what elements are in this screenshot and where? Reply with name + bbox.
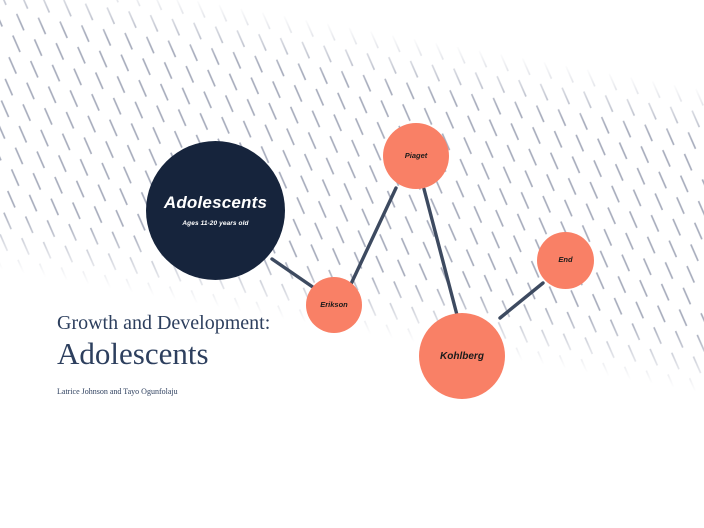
headline-block: Growth and Development: Adolescents Latr…	[57, 312, 387, 396]
mindmap-node-end-label: End	[558, 256, 572, 264]
mindmap-node-end[interactable]: End	[537, 232, 594, 289]
slide-byline: Latrice Johnson and Tayo Ogunfolaju	[57, 387, 387, 396]
mindmap-connectors	[0, 0, 704, 528]
mindmap-node-kohlberg[interactable]: Kohlberg	[419, 313, 505, 399]
mindmap-node-piaget-label: Piaget	[405, 152, 428, 160]
mindmap-node-root-label: Adolescents	[164, 194, 267, 213]
mindmap-node-erikson-label: Erikson	[320, 301, 348, 309]
slide-eyebrow-title: Growth and Development:	[57, 312, 387, 334]
connector-kohlberg-end	[500, 283, 543, 318]
mindmap-node-root-sublabel: Ages 11-20 years old	[182, 220, 248, 227]
mindmap-node-root[interactable]: Adolescents Ages 11-20 years old	[146, 141, 285, 280]
mindmap-node-piaget[interactable]: Piaget	[383, 123, 449, 189]
slide-main-title: Adolescents	[57, 336, 387, 373]
mindmap-node-kohlberg-label: Kohlberg	[440, 351, 484, 362]
slide-canvas: Adolescents Ages 11-20 years old Piaget …	[0, 0, 704, 528]
connector-piaget-erikson	[351, 188, 396, 284]
connector-piaget-kohlberg	[424, 189, 457, 315]
